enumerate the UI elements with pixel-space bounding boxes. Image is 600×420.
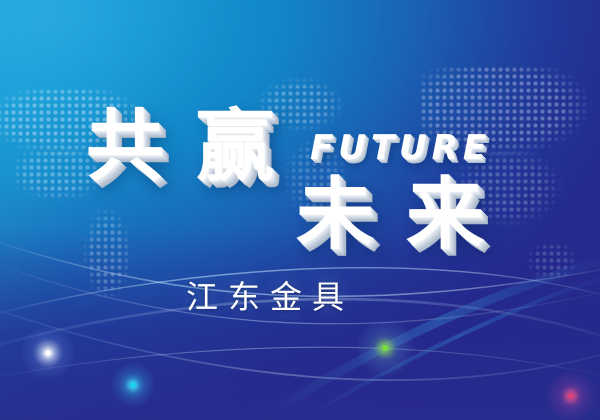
banner-canvas: 共 赢 FUTURE 未 来 江东金具 [0, 0, 600, 420]
vignette-overlay [0, 0, 600, 420]
